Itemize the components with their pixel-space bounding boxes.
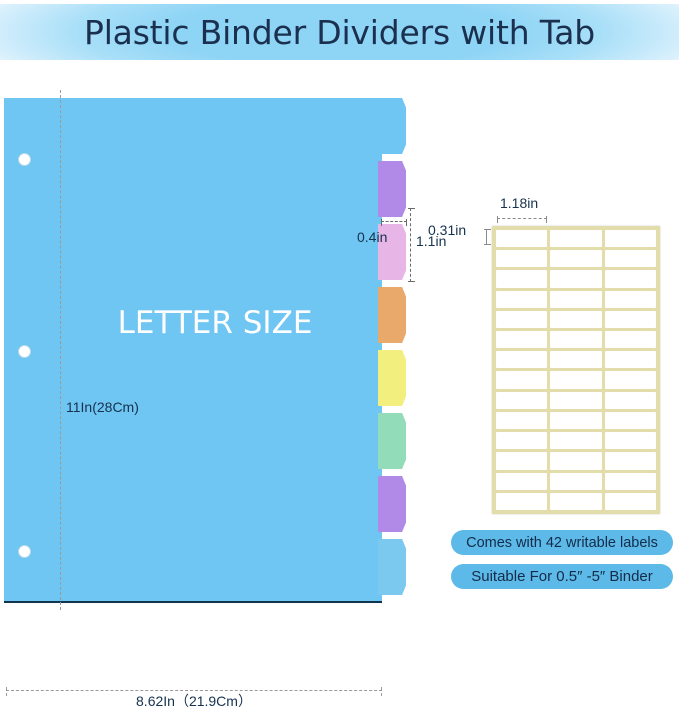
label-cell	[605, 311, 656, 328]
label-cell	[496, 493, 547, 510]
tab-4-orange	[378, 287, 406, 343]
label-cell	[605, 270, 656, 287]
tab-height-dimension-line	[410, 208, 411, 282]
label-cell	[550, 311, 601, 328]
title-banner: Plastic Binder Dividers with Tab	[0, 4, 679, 60]
label-cell	[605, 230, 656, 247]
label-cell	[496, 230, 547, 247]
punch-hole-icon	[18, 545, 31, 558]
divider-width-label: 8.62In（21.9Cm）	[0, 691, 388, 711]
tab-5-yellow	[378, 350, 406, 406]
page-title: Plastic Binder Dividers with Tab	[0, 4, 679, 60]
label-cell	[605, 291, 656, 308]
label-cell	[550, 412, 601, 429]
label-cell	[550, 371, 601, 388]
label-cell	[496, 331, 547, 348]
label-height-dimension-line	[486, 229, 487, 245]
tab-shape	[378, 161, 406, 217]
label-cell	[496, 291, 547, 308]
punch-hole-icon	[18, 153, 31, 166]
label-cell	[496, 452, 547, 469]
tab-7-purple	[378, 476, 406, 532]
label-sheet	[492, 226, 660, 514]
tab-8-blue	[378, 539, 406, 595]
label-cell	[605, 392, 656, 409]
badge-writable-labels: Comes with 42 writable labels	[451, 530, 673, 555]
tab-1-blue	[378, 98, 406, 154]
label-cell	[550, 493, 601, 510]
label-cell	[550, 291, 601, 308]
label-cell	[605, 493, 656, 510]
label-cell	[496, 351, 547, 368]
divider-height-label: 11In(28Cm)	[66, 399, 139, 415]
label-cell	[496, 270, 547, 287]
tab-6-green	[378, 413, 406, 469]
label-cell	[496, 473, 547, 490]
label-cell	[550, 331, 601, 348]
label-cell	[496, 371, 547, 388]
divider-illustration: LETTER SIZE 11In(28Cm) 0.4in 1.1in 8.62I…	[0, 90, 440, 610]
label-cell	[605, 452, 656, 469]
label-cell	[605, 412, 656, 429]
tab-shape	[378, 350, 406, 406]
label-cell	[605, 331, 656, 348]
tab-shape	[378, 476, 406, 532]
label-cell	[550, 250, 601, 267]
tab-2-purple	[378, 161, 406, 217]
badge-binder-compatibility: Suitable For 0.5″ -5″ Binder	[451, 564, 673, 589]
tab-shape	[378, 413, 406, 469]
label-cell	[496, 311, 547, 328]
label-cell	[550, 432, 601, 449]
label-cell	[496, 250, 547, 267]
tab-width-dimension-line	[381, 221, 407, 222]
margin-dashed-line	[60, 90, 61, 610]
tab-shape	[378, 539, 406, 595]
label-cell	[550, 392, 601, 409]
label-cell	[496, 412, 547, 429]
label-cell	[550, 351, 601, 368]
label-cell	[605, 250, 656, 267]
label-cell	[605, 432, 656, 449]
label-cell	[496, 432, 547, 449]
label-cell	[550, 473, 601, 490]
label-cell	[496, 392, 547, 409]
label-cell	[605, 371, 656, 388]
label-width-label: 1.18in	[500, 195, 538, 211]
label-height-label: 0.31in	[428, 222, 466, 238]
label-cell	[550, 270, 601, 287]
label-width-dimension-line	[497, 218, 547, 219]
letter-size-label: LETTER SIZE	[100, 305, 330, 341]
label-cell	[605, 473, 656, 490]
tab-width-label: 0.4in	[357, 229, 387, 245]
tab-shape	[378, 287, 406, 343]
tab-shape	[378, 98, 406, 154]
label-cell	[605, 351, 656, 368]
label-cell	[550, 452, 601, 469]
label-cell	[550, 230, 601, 247]
punch-hole-icon	[18, 345, 31, 358]
